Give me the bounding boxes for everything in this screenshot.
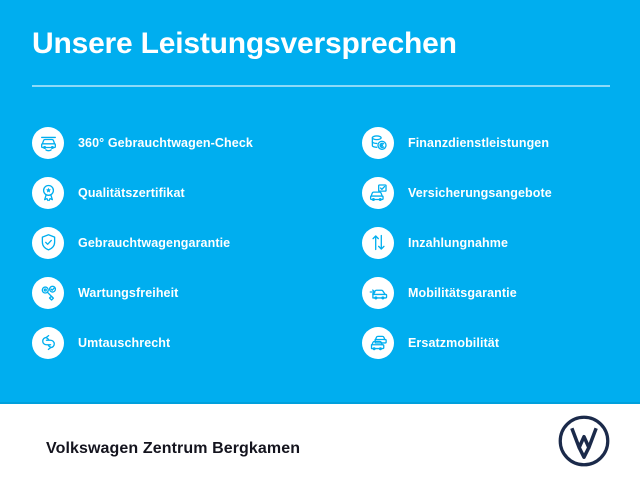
two-cars-icon <box>362 327 394 359</box>
benefit-label: Umtauschrecht <box>78 336 170 350</box>
benefit-item: Mobilitätsgarantie <box>362 268 632 317</box>
benefit-label: 360° Gebrauchtwagen-Check <box>78 136 253 150</box>
coins-euro-icon <box>362 127 394 159</box>
benefit-item: Qualitätszertifikat <box>32 168 332 217</box>
benefit-label: Finanzdienstleistungen <box>408 136 549 150</box>
benefit-label: Inzahlungnahme <box>408 236 508 250</box>
blue-content-panel: Unsere Leistungsversprechen <box>0 0 640 404</box>
page-title: Unsere Leistungsversprechen <box>32 27 457 61</box>
title-divider <box>32 85 610 87</box>
up-down-arrows-icon <box>362 227 394 259</box>
benefit-item: Wartungsfreiheit <box>32 268 332 317</box>
car-arrow-icon <box>362 277 394 309</box>
benefit-label: Versicherungsangebote <box>408 186 552 200</box>
benefits-column-left: 360° Gebrauchtwagen-Check Qualitätszerti… <box>32 118 332 368</box>
car-document-check-icon <box>362 177 394 209</box>
benefit-item: Inzahlungnahme <box>362 218 632 267</box>
benefit-item: Finanzdienstleistungen <box>362 118 632 167</box>
car-inspection-icon <box>32 127 64 159</box>
benefit-item: 360° Gebrauchtwagen-Check <box>32 118 332 167</box>
benefit-label: Gebrauchtwagengarantie <box>78 236 230 250</box>
benefit-label: Wartungsfreiheit <box>78 286 178 300</box>
benefits-column-right: Finanzdienstleistungen Versicheru <box>362 118 632 368</box>
promo-poster: Unsere Leistungsversprechen <box>0 0 640 480</box>
volkswagen-logo <box>557 414 611 468</box>
dealer-name: Volkswagen Zentrum Bergkamen <box>46 440 300 458</box>
benefit-label: Mobilitätsgarantie <box>408 286 517 300</box>
benefit-item: Gebrauchtwagengarantie <box>32 218 332 267</box>
benefit-label: Ersatzmobilität <box>408 336 499 350</box>
wrench-check-icon <box>32 277 64 309</box>
benefit-label: Qualitätszertifikat <box>78 186 185 200</box>
benefit-item: Versicherungsangebote <box>362 168 632 217</box>
exchange-arrows-icon <box>32 327 64 359</box>
shield-check-icon <box>32 227 64 259</box>
award-rosette-icon <box>32 177 64 209</box>
benefit-item: Umtauschrecht <box>32 318 332 367</box>
footer-bar: Volkswagen Zentrum Bergkamen <box>0 404 640 480</box>
benefit-item: Ersatzmobilität <box>362 318 632 367</box>
